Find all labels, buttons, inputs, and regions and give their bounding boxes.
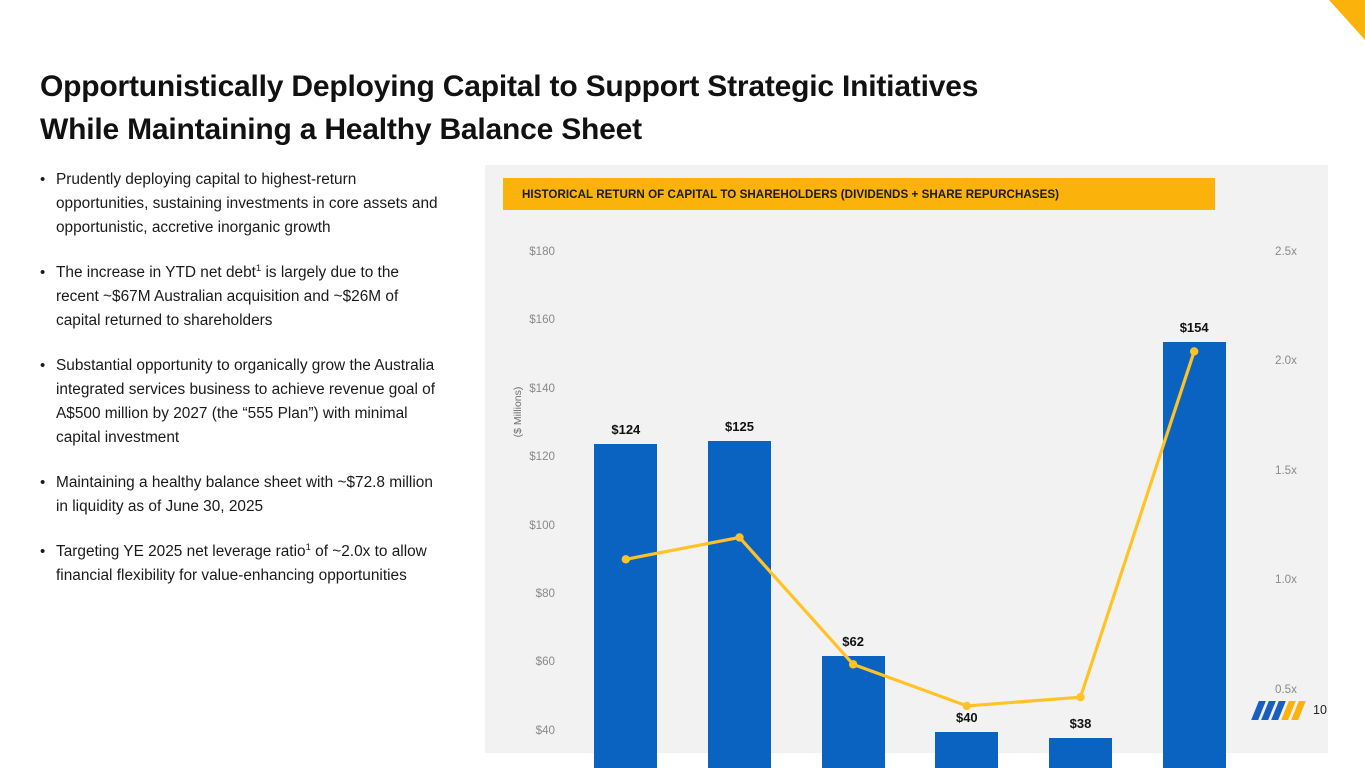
company-logo-icon [1254, 701, 1306, 720]
chart-panel: HISTORICAL RETURN OF CAPITAL TO SHAREHOL… [485, 165, 1328, 753]
bullet-text: Substantial opportunity to organically g… [56, 354, 440, 450]
bar [594, 444, 657, 768]
bar [1049, 738, 1112, 768]
bar-value-label: $62 [805, 634, 901, 649]
bar [708, 441, 771, 768]
bullet-marker: • [40, 354, 56, 450]
y-axis-tick: $120 [497, 450, 555, 463]
list-item: • Maintaining a healthy balance sheet wi… [40, 471, 440, 519]
bar [822, 656, 885, 768]
bullet-text: Prudently deploying capital to highest-r… [56, 168, 440, 240]
bar-value-label: $124 [578, 422, 674, 437]
page-number: 10 [1313, 703, 1327, 717]
bar-value-label: $38 [1033, 716, 1129, 731]
y2-axis-tick: 0.5x [1275, 683, 1325, 696]
logo-and-page: 10 [1254, 697, 1354, 723]
y-axis-tick: $100 [497, 519, 555, 532]
y2-axis-tick: 1.5x [1275, 464, 1325, 477]
bullet-text: The increase in YTD net debt1 is largely… [56, 261, 440, 333]
bar-value-label: $154 [1146, 320, 1242, 335]
bullet-marker: • [40, 261, 56, 333]
list-item: • Substantial opportunity to organically… [40, 354, 440, 450]
bar-value-label: $40 [919, 710, 1015, 725]
bar [935, 732, 998, 768]
bullet-marker: • [40, 471, 56, 519]
page-title: Opportunistically Deploying Capital to S… [40, 66, 1050, 151]
bullet-text: Targeting YE 2025 net leverage ratio1 of… [56, 540, 440, 588]
y-axis-tick: $140 [497, 382, 555, 395]
y-axis-tick: $60 [497, 655, 555, 668]
y-axis-tick: $160 [497, 313, 555, 326]
chart-plot-wrapper: ($ Millions) $20$40$60$80$100$120$140$16… [485, 165, 1328, 753]
line-marker [1076, 693, 1084, 701]
bullet-marker: • [40, 168, 56, 240]
title-line-2: While Maintaining a Healthy Balance Shee… [40, 109, 1050, 152]
bar-value-label: $125 [692, 419, 788, 434]
y2-axis-tick: 2.0x [1275, 354, 1325, 367]
title-line-1: Opportunistically Deploying Capital to S… [40, 70, 978, 103]
y-axis-tick: $80 [497, 587, 555, 600]
bullet-list: • Prudently deploying capital to highest… [40, 168, 440, 609]
y-axis-title: ($ Millions) [512, 367, 524, 457]
y2-axis-tick: 1.0x [1275, 573, 1325, 586]
list-item: • Targeting YE 2025 net leverage ratio1 … [40, 540, 440, 588]
slide: Opportunistically Deploying Capital to S… [0, 0, 1365, 768]
list-item: • The increase in YTD net debt1 is large… [40, 261, 440, 333]
y2-axis-tick: 2.5x [1275, 245, 1325, 258]
y-axis-tick: $40 [497, 724, 555, 737]
bullet-text: Maintaining a healthy balance sheet with… [56, 471, 440, 519]
list-item: • Prudently deploying capital to highest… [40, 168, 440, 240]
bar [1163, 342, 1226, 768]
y-axis-tick: $180 [497, 245, 555, 258]
bullet-marker: • [40, 540, 56, 588]
